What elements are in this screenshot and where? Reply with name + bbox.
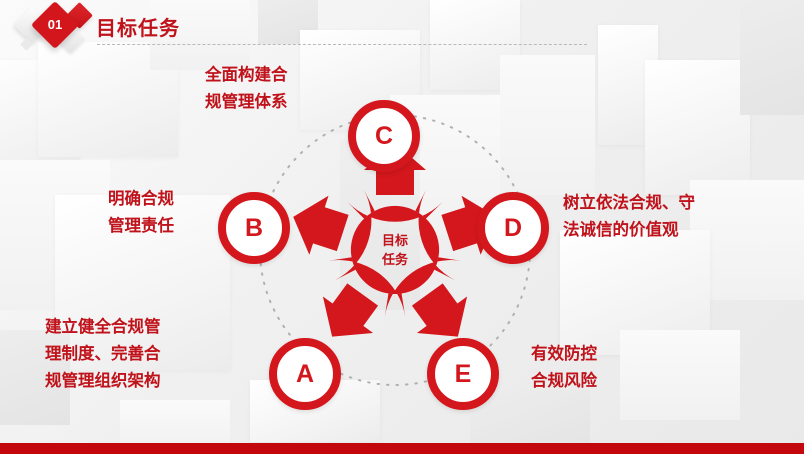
ring-arrow-icon: [284, 187, 353, 262]
node-circle-a[interactable]: A: [269, 338, 341, 410]
slide-header: 01 目标任务: [0, 0, 804, 56]
footer-bar: [0, 443, 804, 454]
node-label-b: 明确合规 管理责任: [108, 186, 174, 240]
node-label-d: 树立依法合规、守 法诚信的价值观: [563, 190, 695, 244]
section-badge: 01: [14, 2, 102, 54]
page-title: 目标任务: [96, 12, 180, 41]
bg-block: [620, 330, 740, 420]
node-circle-c[interactable]: C: [348, 100, 420, 172]
header-divider: [97, 44, 587, 45]
hub-arrow-ring: [279, 143, 512, 364]
node-label-a: 建立健全合规管 理制度、完善合 规管理组织架构: [45, 314, 161, 395]
node-circle-d[interactable]: D: [477, 192, 549, 264]
bg-block: [645, 60, 750, 195]
node-circle-e[interactable]: E: [427, 338, 499, 410]
slide-canvas: 01 目标任务 全面构建合 规管理体系 明确合规 管理责任 建立健全合规管 理制…: [0, 0, 804, 454]
ring-segment: [348, 202, 443, 222]
node-circle-b[interactable]: B: [218, 192, 290, 264]
badge-number: 01: [38, 8, 72, 42]
badge-diamond-icon: 01: [31, 1, 79, 49]
